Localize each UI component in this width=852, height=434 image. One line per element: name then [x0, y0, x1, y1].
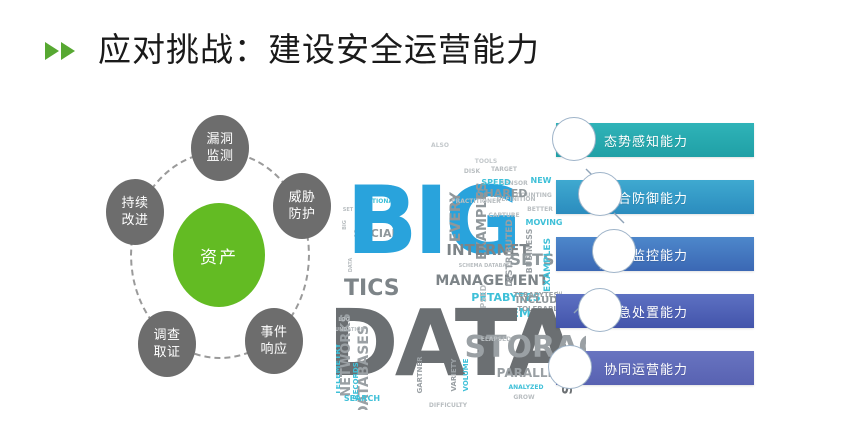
page-title: 应对挑战：建设安全运营能力 — [98, 33, 540, 66]
capability-row[interactable]: 综合防御能力 — [548, 180, 758, 216]
svg-text:DISK: DISK — [464, 168, 481, 175]
svg-text:TARGET: TARGET — [491, 166, 518, 173]
capability-circle-5[interactable] — [548, 345, 592, 389]
svg-text:GARTNER: GARTNER — [416, 356, 424, 394]
capability-row[interactable]: 态势感知能力 — [548, 123, 758, 159]
cycle-node-label-line2: 响应 — [260, 341, 287, 358]
cycle-node-label-line1: 漏洞 — [206, 131, 233, 148]
capability-label: 态势感知能力 — [604, 131, 688, 150]
svg-text:ANALYZED: ANALYZED — [509, 384, 544, 391]
cycle-node-label-line2: 防护 — [288, 206, 315, 223]
capability-circle-3[interactable] — [592, 229, 636, 273]
cycle-center-node[interactable]: 资产 — [173, 203, 265, 307]
asset-cycle-diagram: 资产 漏洞 监测 威胁 防护 事件 响应 调查 取证 持续 改进 — [95, 115, 345, 405]
svg-text:FOUNDATION: FOUNDATION — [336, 327, 365, 333]
svg-text:TELEMETRY: TELEMETRY — [336, 343, 342, 395]
cycle-node-label-line1: 威胁 — [288, 189, 315, 206]
capability-row[interactable]: 协同运营能力 — [548, 351, 758, 387]
cycle-node-forensics[interactable]: 调查 取证 — [138, 311, 196, 377]
svg-text:LOG: LOG — [338, 317, 349, 323]
svg-text:GROW: GROW — [513, 394, 535, 401]
double-arrow-icon — [44, 40, 80, 62]
cycle-node-threat[interactable]: 威胁 防护 — [273, 173, 331, 239]
capability-circle-1[interactable] — [552, 117, 596, 161]
svg-text:TOOLS: TOOLS — [475, 158, 497, 165]
cycle-node-label-line1: 事件 — [260, 324, 287, 341]
cycle-node-label-line2: 取证 — [153, 344, 180, 361]
svg-text:VARIETY: VARIETY — [450, 358, 458, 392]
capability-bar-3[interactable]: 预警监控能力 — [556, 237, 754, 271]
cycle-node-label-line2: 监测 — [206, 148, 233, 165]
cycle-node-incident[interactable]: 事件 响应 — [245, 308, 303, 374]
slide-canvas: 应对挑战：建设安全运营能力 资产 漏洞 监测 威胁 防护 事件 响应 调查 — [0, 0, 852, 434]
capability-label: 协同运营能力 — [604, 359, 688, 378]
diagram-area: 资产 漏洞 监测 威胁 防护 事件 响应 调查 取证 持续 改进 — [0, 95, 852, 434]
cycle-node-vuln[interactable]: 漏洞 监测 — [191, 115, 249, 181]
svg-text:ALSO: ALSO — [431, 142, 449, 149]
svg-text:SHARED: SHARED — [477, 187, 528, 200]
cycle-node-improve[interactable]: 持续 改进 — [106, 179, 164, 245]
svg-text:MANAGEMENT: MANAGEMENT — [435, 273, 549, 289]
svg-text:DIFFICULTY: DIFFICULTY — [429, 402, 468, 409]
svg-text:SPEED: SPEED — [481, 178, 511, 187]
capability-circle-4[interactable] — [578, 288, 622, 332]
capability-chain: 态势感知能力 综合防御能力 预警监控能力 应急处置能力 — [548, 123, 778, 423]
svg-text:SEARCH: SEARCH — [344, 394, 380, 403]
cycle-node-label-line1: 持续 — [121, 195, 148, 212]
svg-text:ELAPSED: ELAPSED — [481, 336, 511, 343]
cycle-center-label: 资产 — [200, 243, 238, 268]
capability-circle-2[interactable] — [578, 172, 622, 216]
svg-text:CAPTURE: CAPTURE — [488, 212, 519, 219]
cycle-node-label-line2: 改进 — [121, 212, 148, 229]
capability-row[interactable]: 应急处置能力 — [548, 294, 758, 330]
capability-row[interactable]: 预警监控能力 — [548, 237, 758, 273]
slide-title-row: 应对挑战：建设安全运营能力 — [44, 22, 540, 76]
cycle-node-label-line1: 调查 — [153, 327, 180, 344]
